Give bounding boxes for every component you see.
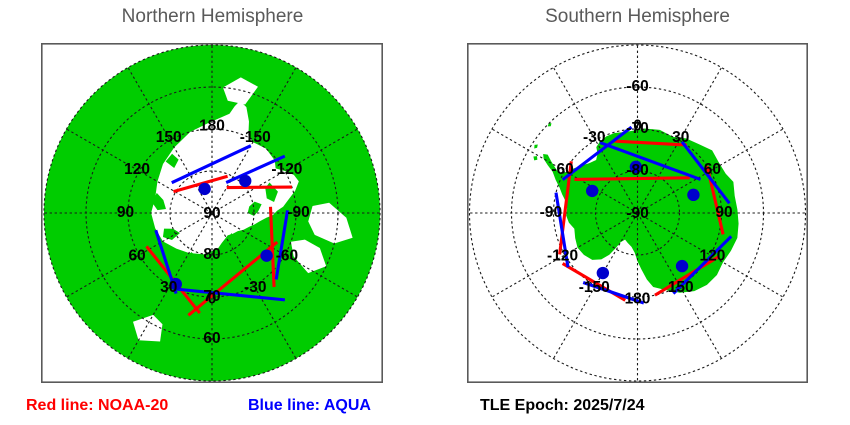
lon-label-150: 150 bbox=[668, 279, 694, 296]
northern-hemisphere-title: Northern Hemisphere bbox=[0, 6, 425, 28]
north-satellite-marker-1 bbox=[239, 175, 251, 187]
lon-label-60: 60 bbox=[704, 161, 721, 178]
northern-hemisphere-panel: Northern Hemisphere 90807060030609012015… bbox=[0, 0, 425, 425]
southern-polar-plot: -90-80-70-600306090120150180-150-120-90-… bbox=[467, 43, 808, 383]
lat-ring-label--60: -60 bbox=[626, 78, 648, 95]
lon-label--30: -30 bbox=[583, 129, 605, 146]
center-lat-label: -90 bbox=[626, 205, 648, 222]
south-plot-content: -90-80-70-600306090120150180-150-120-90-… bbox=[470, 45, 806, 381]
south-satellite-marker-1 bbox=[687, 189, 699, 201]
tle-epoch-label: TLE Epoch: 2025/7/24 bbox=[480, 393, 645, 419]
lon-label-60: 60 bbox=[128, 247, 145, 264]
lon-label--90: -90 bbox=[287, 204, 309, 221]
south-satellite-marker-4 bbox=[586, 185, 598, 197]
center-lat-label: 90 bbox=[203, 205, 220, 222]
southern-hemisphere-panel: Southern Hemisphere -90-80-70-6003060901… bbox=[425, 0, 850, 425]
southern-polar-svg: -90-80-70-600306090120150180-150-120-90-… bbox=[467, 43, 808, 383]
lon-label-30: 30 bbox=[160, 279, 177, 296]
lon-label-120: 120 bbox=[124, 161, 150, 178]
antarctic-island-2 bbox=[548, 123, 552, 126]
north-noaa20-track-1 bbox=[227, 187, 292, 188]
lon-label--30: -30 bbox=[244, 279, 266, 296]
northern-polar-plot: 908070600306090120150180-150-120-90-60-3… bbox=[41, 43, 383, 383]
lon-label--90: -90 bbox=[540, 204, 562, 221]
antarctic-island-1 bbox=[534, 144, 538, 148]
lon-label-180: 180 bbox=[625, 291, 651, 308]
southern-hemisphere-title: Southern Hemisphere bbox=[425, 6, 850, 28]
lon-label-0: 0 bbox=[208, 291, 217, 308]
northern-island-2 bbox=[265, 182, 278, 202]
north-satellite-marker-0 bbox=[198, 183, 210, 195]
antarctic-island-0 bbox=[533, 156, 537, 160]
lat-ring-label-80: 80 bbox=[203, 246, 220, 263]
lon-label--120: -120 bbox=[271, 161, 302, 178]
lon-label-30: 30 bbox=[672, 129, 689, 146]
legend-aqua: Blue line: AQUA bbox=[248, 393, 371, 419]
legend-noaa20: Red line: NOAA-20 bbox=[26, 393, 168, 419]
lat-ring-label--80: -80 bbox=[626, 162, 648, 179]
lon-label--150: -150 bbox=[240, 129, 271, 146]
screenshot-root: Northern Hemisphere 90807060030609012015… bbox=[0, 0, 850, 425]
lon-label-120: 120 bbox=[699, 247, 725, 264]
lat-ring-label-60: 60 bbox=[203, 330, 220, 347]
lon-label--120: -120 bbox=[547, 247, 578, 264]
south-satellite-marker-3 bbox=[597, 267, 609, 279]
lon-label-90: 90 bbox=[117, 204, 134, 221]
lon-label-0: 0 bbox=[633, 118, 642, 135]
lon-label--150: -150 bbox=[579, 279, 610, 296]
northern-island-4 bbox=[163, 229, 180, 240]
lon-label-150: 150 bbox=[156, 129, 182, 146]
north-satellite-marker-2 bbox=[260, 249, 272, 261]
south-satellite-marker-2 bbox=[676, 260, 688, 272]
north-plot-content: 908070600306090120150180-150-120-90-60-3… bbox=[44, 45, 380, 381]
lon-label--60: -60 bbox=[551, 161, 573, 178]
northern-polar-svg: 908070600306090120150180-150-120-90-60-3… bbox=[41, 43, 383, 383]
lon-label-180: 180 bbox=[199, 118, 225, 135]
lon-label-90: 90 bbox=[715, 204, 732, 221]
lon-label--60: -60 bbox=[276, 247, 298, 264]
northern-island-1 bbox=[248, 202, 262, 216]
